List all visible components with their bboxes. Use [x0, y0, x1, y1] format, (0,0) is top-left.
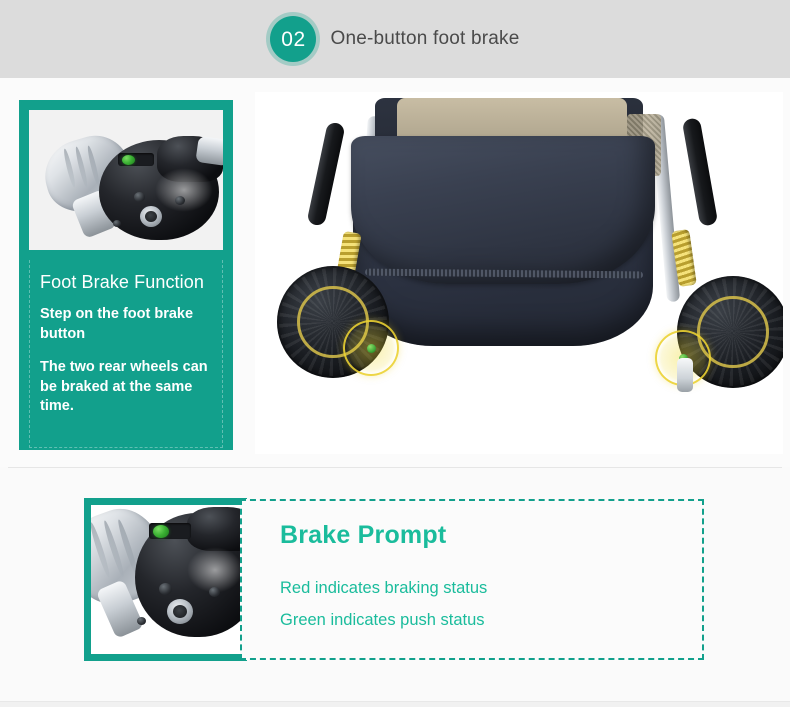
main-content-row: Foot Brake Function Step on the foot bra… — [0, 78, 790, 467]
brake-led-left — [367, 344, 376, 353]
brake-indicator-highlight-left — [343, 320, 399, 376]
section-title: One-button foot brake — [330, 28, 519, 50]
step-number-badge: 02 — [270, 16, 316, 62]
section-divider — [8, 467, 782, 468]
footer-strip — [0, 701, 790, 707]
feature-card: Foot Brake Function Step on the foot bra… — [19, 100, 233, 450]
section-header: 02 One-button foot brake — [0, 0, 790, 78]
feature-card-title: Foot Brake Function — [40, 272, 212, 293]
feature-card-photo — [29, 110, 223, 250]
feature-card-paragraph-2: The two rear wheels can be braked at the… — [40, 358, 212, 417]
prompt-card-photo — [84, 498, 247, 661]
header-content: 02 One-button foot brake — [270, 16, 519, 62]
hero-product-photo — [255, 92, 783, 454]
brake-prompt-card: Brake Prompt Red indicates braking statu… — [84, 498, 704, 661]
feature-card-paragraph-1: Step on the foot brake button — [40, 305, 212, 344]
brake-mechanism-illustration — [29, 110, 223, 250]
prompt-card-line-1: Red indicates braking status — [280, 572, 702, 604]
stroller-basket-flap — [351, 136, 655, 284]
prompt-card-line-2: Green indicates push status — [280, 604, 702, 636]
brake-release-lever — [677, 358, 693, 392]
brake-mechanism-illustration — [91, 505, 240, 654]
prompt-card-text-box: Brake Prompt Red indicates braking statu… — [240, 499, 704, 660]
step-number-label: 02 — [281, 29, 305, 50]
feature-card-body: Foot Brake Function Step on the foot bra… — [29, 260, 223, 448]
prompt-card-title: Brake Prompt — [280, 521, 702, 550]
